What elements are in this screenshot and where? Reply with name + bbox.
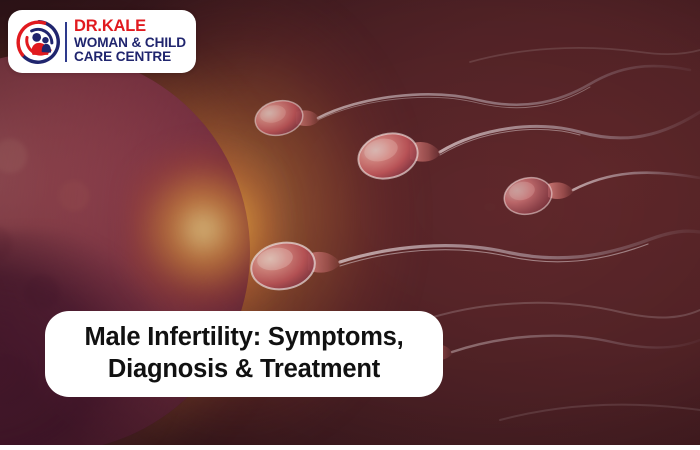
page-title-line-1: Male Infertility: Symptoms, [84,323,403,351]
page-title: Male Infertility: Symptoms, Diagnosis & … [84,322,403,385]
logo-divider [65,22,67,62]
clinic-name-line-2: WOMAN & CHILD [74,36,186,50]
clinic-name-block: DR.KALE WOMAN & CHILD CARE CENTRE [74,18,186,64]
article-title-card: Male Infertility: Symptoms, Diagnosis & … [45,311,443,397]
clinic-logo-card[interactable]: DR.KALE WOMAN & CHILD CARE CENTRE [8,10,196,73]
page-title-line-2: Diagnosis & Treatment [108,355,380,383]
article-banner: DR.KALE WOMAN & CHILD CARE CENTRE Male I… [0,0,700,450]
clinic-name-line-1: DR.KALE [74,18,186,35]
mother-and-child-circle-icon [16,19,62,65]
bottom-white-strip [0,445,700,450]
clinic-name-line-3: CARE CENTRE [74,50,186,64]
